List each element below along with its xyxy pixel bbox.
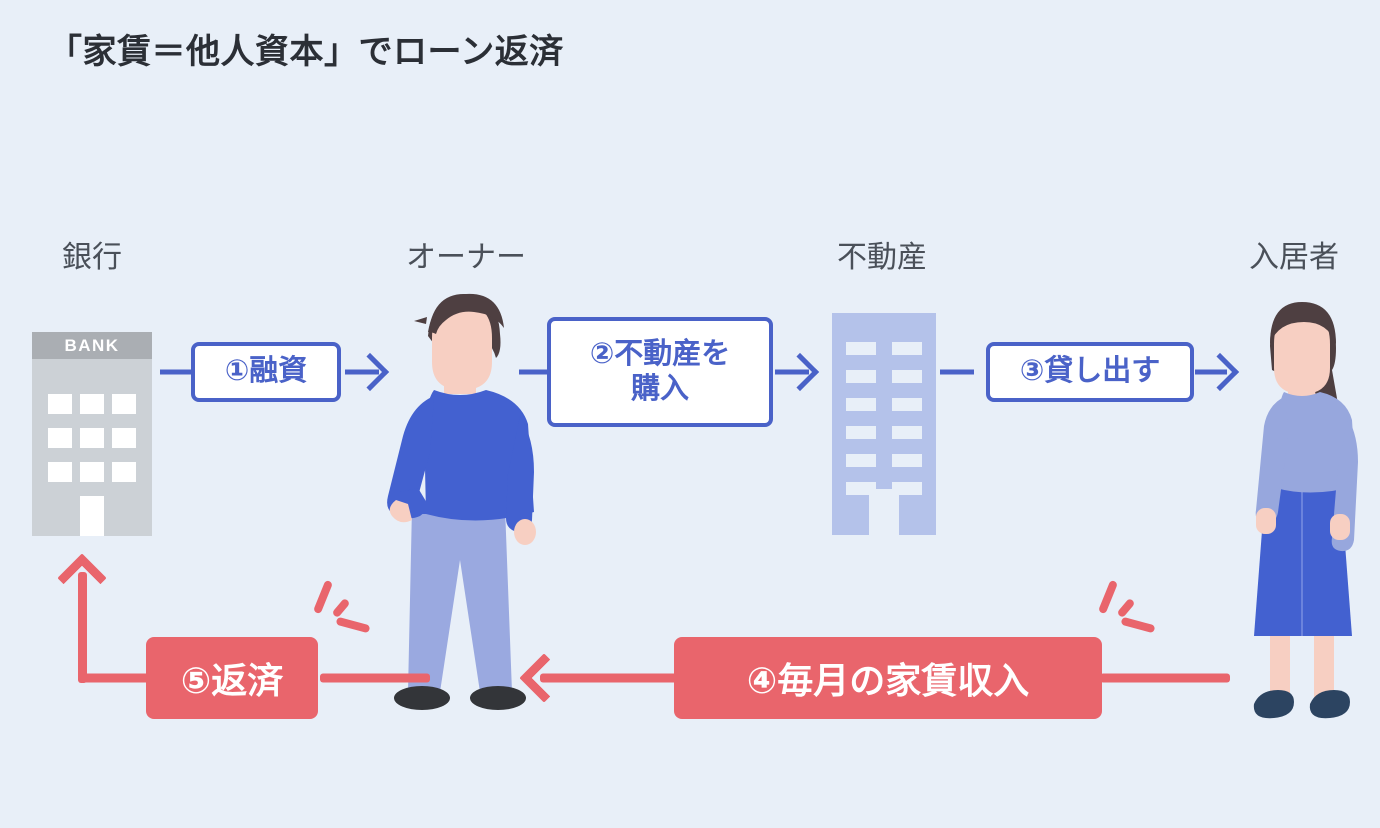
step-1-label: ①融資 xyxy=(225,354,308,389)
column-label-tenant: 入居者 xyxy=(1249,232,1339,276)
bank-window xyxy=(48,394,72,414)
step-2-label-line1: ②不動産を xyxy=(590,337,731,372)
connector-property-to-step3 xyxy=(940,370,974,375)
bank-door xyxy=(80,496,104,536)
apartment-window xyxy=(892,342,922,355)
connector-tenant-to-step4 xyxy=(1100,674,1230,683)
step-4-box[interactable]: ④毎月の家賃収入 xyxy=(674,637,1102,719)
bank-window xyxy=(80,428,104,448)
apartment-window xyxy=(846,342,876,355)
step-3-box[interactable]: ③貸し出す xyxy=(986,342,1194,402)
apartment-window xyxy=(892,454,922,467)
step-1-box[interactable]: ①融資 xyxy=(191,342,341,402)
apartment-window xyxy=(846,370,876,383)
step-3-label: ③貸し出す xyxy=(1020,354,1161,389)
apartment-door xyxy=(869,489,899,535)
page-title: 「家賃＝他人資本」でローン返済 xyxy=(48,24,564,73)
apartment-window xyxy=(892,370,922,383)
column-label-owner: オーナー xyxy=(406,232,526,276)
column-label-property: 不動産 xyxy=(837,232,927,276)
step-5-label: ⑤返済 xyxy=(181,652,283,704)
bank-window xyxy=(48,462,72,482)
bank-window xyxy=(112,394,136,414)
connector-step5-to-bank-horizontal xyxy=(82,674,152,683)
column-label-bank: 銀行 xyxy=(62,232,122,276)
bank-sign: BANK xyxy=(32,332,152,359)
bank-window xyxy=(112,462,136,482)
apartment-window xyxy=(846,398,876,411)
step-2-label-line2: 購入 xyxy=(631,372,689,407)
bank-window xyxy=(80,394,104,414)
apartment-window xyxy=(846,426,876,439)
diagram-canvas: 「家賃＝他人資本」でローン返済 銀行 オーナー 不動産 入居者 BANK xyxy=(0,0,1380,828)
step-2-box[interactable]: ②不動産を 購入 xyxy=(547,317,773,427)
step-5-box[interactable]: ⑤返済 xyxy=(146,637,318,719)
connector-owner-to-step5 xyxy=(320,674,430,683)
bank-window xyxy=(112,428,136,448)
sparkle-icon-right xyxy=(1090,578,1160,648)
apartment-building-icon xyxy=(832,313,936,535)
apartment-window xyxy=(892,398,922,411)
bank-window xyxy=(80,462,104,482)
apartment-window xyxy=(892,426,922,439)
step-4-label: ④毎月の家賃収入 xyxy=(747,652,1029,704)
sparkle-icon-left xyxy=(305,578,375,648)
tenant-person-icon xyxy=(1232,300,1372,740)
arrow-up-icon xyxy=(57,553,106,602)
arrow-right-icon xyxy=(781,353,819,391)
bank-building-icon: BANK xyxy=(32,332,152,536)
apartment-window xyxy=(846,454,876,467)
bank-window xyxy=(48,428,72,448)
